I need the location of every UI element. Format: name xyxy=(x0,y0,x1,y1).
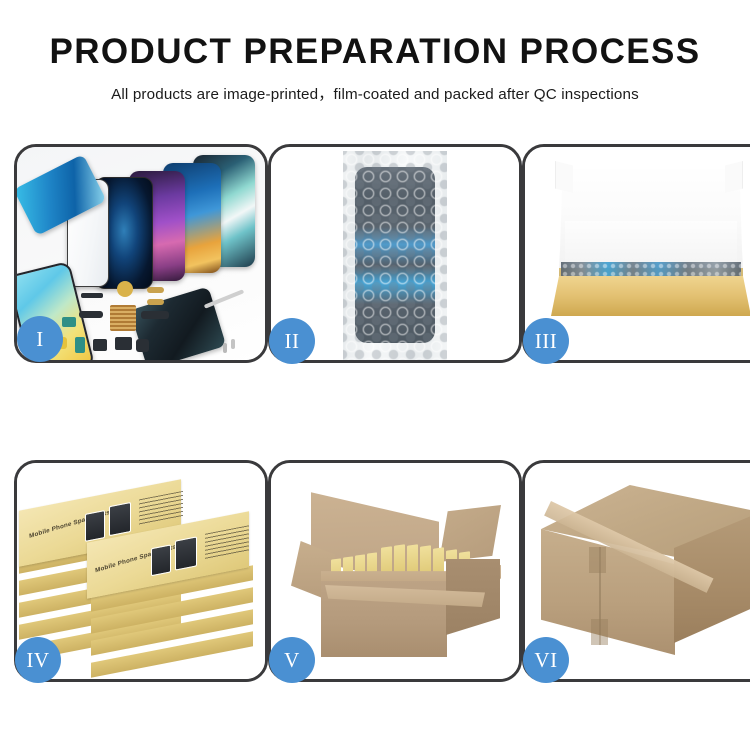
process-step-4: Mobile Phone Spare Parts Mobile Phone Sp… xyxy=(14,460,268,682)
step-badge-2: II xyxy=(269,318,315,364)
page-header: PRODUCT PREPARATION PROCESS All products… xyxy=(0,0,750,104)
part-speaker-module xyxy=(115,337,132,350)
sealed-carton-tab-upper xyxy=(589,547,606,573)
retail-box-phone-art-front-1 xyxy=(151,544,171,576)
step-badge-6: VI xyxy=(523,637,569,683)
part-camera-lens xyxy=(117,281,133,297)
process-step-3: III xyxy=(522,144,750,363)
part-screw-b xyxy=(231,339,235,349)
part-flex-ribbon-right xyxy=(141,311,169,319)
process-step-2: II xyxy=(268,144,522,363)
part-vibrator-motor xyxy=(136,339,149,352)
step-badge-4: IV xyxy=(15,637,61,683)
step-badge-1: I xyxy=(17,316,63,362)
part-flex-cable-small xyxy=(147,287,164,293)
inner-box-lid-tab-right xyxy=(725,161,743,193)
step-badge-3: III xyxy=(523,318,569,364)
inner-box-lid-tab-left xyxy=(555,161,573,193)
bubble-shadows xyxy=(343,151,447,360)
part-flex-ribbon-left xyxy=(79,311,103,318)
process-step-grid: I II III xyxy=(14,144,736,682)
open-carton xyxy=(285,489,511,671)
part-screw-a xyxy=(223,343,227,353)
part-sim-tray xyxy=(75,337,85,353)
step-badge-5: V xyxy=(269,637,315,683)
page-subtitle: All products are image-printed，film-coat… xyxy=(0,82,750,104)
part-bracket-green xyxy=(62,317,76,327)
sealed-carton xyxy=(541,485,750,675)
sealed-carton-tab-lower xyxy=(591,619,608,645)
product-preparation-page: PRODUCT PREPARATION PROCESS All products… xyxy=(0,0,750,750)
retail-box-phone-art-back-2 xyxy=(109,502,131,536)
retail-box-spec-lines-back xyxy=(139,491,183,526)
part-chip-array xyxy=(110,305,136,331)
retail-box-stack: Mobile Phone Spare Parts Mobile Phone Sp… xyxy=(23,481,259,671)
part-flex-cable-small-2 xyxy=(147,299,164,305)
process-step-6: VI xyxy=(522,460,750,682)
part-connector-strip xyxy=(81,293,103,298)
page-title: PRODUCT PREPARATION PROCESS xyxy=(0,34,750,71)
retail-box-phone-art-back-1 xyxy=(85,510,105,542)
part-button-set xyxy=(93,339,107,351)
process-step-1: I xyxy=(14,144,268,363)
inner-box-kraft-tray xyxy=(551,276,750,316)
process-step-5: V xyxy=(268,460,522,682)
retail-box-spec-lines-front xyxy=(205,525,249,560)
retail-box-phone-art-front-2 xyxy=(175,536,197,570)
